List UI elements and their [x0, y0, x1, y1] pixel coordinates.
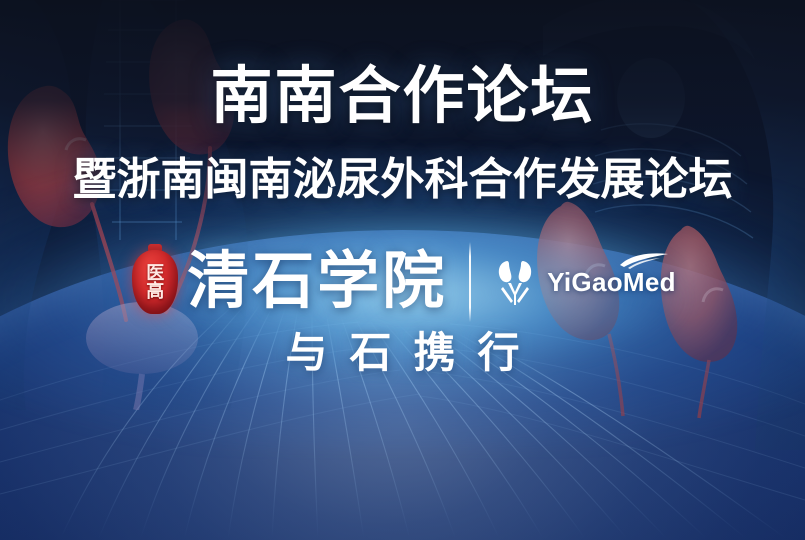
- brand-row: 医 高 清石学院: [0, 232, 805, 332]
- yigaomed-wordmark: YiGaoMed: [547, 267, 676, 298]
- poster-content: 南南合作论坛 暨浙南闽南泌尿外科合作发展论坛 医 高 清石学院: [0, 0, 805, 540]
- page-subtitle: 暨浙南闽南泌尿外科合作发展论坛: [0, 158, 805, 202]
- page-title: 南南合作论坛: [0, 66, 805, 128]
- tagline: 与石携行: [0, 332, 805, 374]
- seal-characters: 医 高: [146, 264, 164, 301]
- seal-char-bottom: 高: [146, 282, 164, 300]
- swoosh-icon: [618, 252, 670, 269]
- yigaomed-logo: YiGaoMed: [493, 257, 676, 307]
- seal-char-top: 医: [146, 264, 164, 282]
- vertical-divider: [469, 242, 471, 322]
- academy-name: 清石学院: [187, 251, 447, 313]
- kidney-urinary-tract-mark: [493, 257, 537, 307]
- red-lantern-seal: 医 高: [129, 244, 181, 320]
- poster-banner: 南南合作论坛 暨浙南闽南泌尿外科合作发展论坛 医 高 清石学院: [0, 0, 805, 540]
- yigaomed-text: YiGaoMed: [547, 267, 676, 297]
